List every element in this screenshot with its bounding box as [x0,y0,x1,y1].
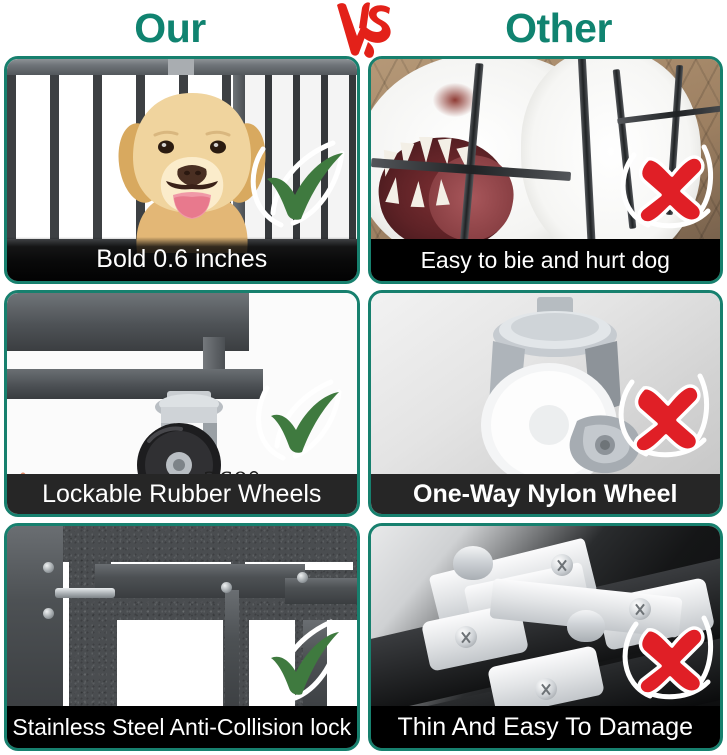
column-heading-our: Our [0,2,340,54]
vs-icon [332,0,398,60]
caption-our-lock: Stainless Steel Anti-Collision lock [7,706,357,748]
panel-our-bars: Bold 0.6 inches [4,56,360,284]
red-x-icon [618,604,718,704]
caption-other-latch: Thin And Easy To Damage [371,706,721,748]
header: Our Other [0,0,727,56]
red-x-icon [614,362,714,462]
column-heading-other: Other [390,2,727,54]
green-check-icon [245,127,351,233]
red-x-icon [618,133,718,233]
panel-other-wheel: One-Way Nylon Wheel [368,290,724,518]
caption-other-bite: Easy to bie and hurt dog [371,239,721,281]
caption-our-wheels: Lockable Rubber Wheels [7,474,357,514]
panel-our-lock: Stainless Steel Anti-Collision lock [4,523,360,751]
comparison-grid: Bold 0.6 inches [0,56,727,755]
green-check-icon [251,610,347,706]
comparison-infographic: Our Other [0,0,727,755]
panel-other-latch: Thin And Easy To Damage [368,523,724,751]
caption-our-bars: Bold 0.6 inches [7,237,357,281]
panel-other-bite: Easy to bie and hurt dog [368,56,724,284]
green-check-icon [251,368,347,464]
panel-our-wheels: 360° Lockable Rubber Wheels [4,290,360,518]
caption-other-wheel: One-Way Nylon Wheel [371,474,721,514]
